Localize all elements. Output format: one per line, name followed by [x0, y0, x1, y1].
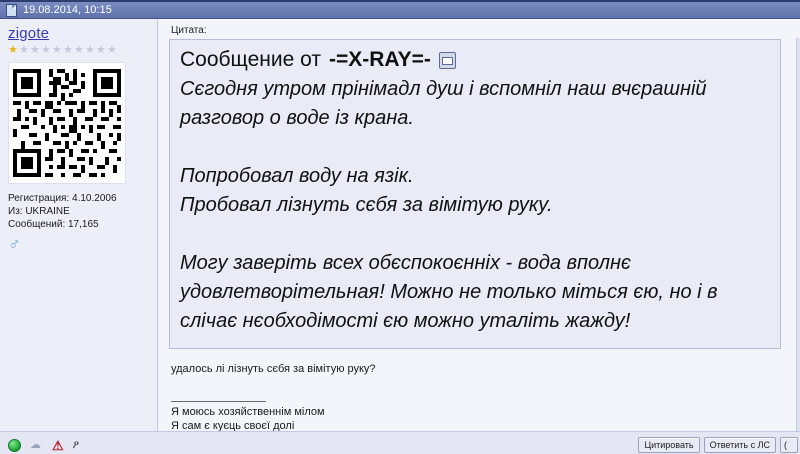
- post-body: zigote ★ ★ ★ ★ ★ ★ ★ ★ ★ ★: [0, 19, 800, 431]
- signature-line: Я моюсь хозяйственнім мілом: [171, 405, 790, 419]
- star-icon: ★: [107, 45, 118, 56]
- post-titlebar: 19.08.2014, 10:15: [0, 0, 800, 19]
- user-rating-stars: ★ ★ ★ ★ ★ ★ ★ ★ ★ ★: [8, 45, 149, 56]
- quote-paragraph-gap: [180, 220, 770, 249]
- forum-post-page: 19.08.2014, 10:15 zigote ★ ★ ★ ★ ★ ★ ★ ★…: [0, 0, 800, 454]
- user-postcount: Сообщений: 17,165: [8, 218, 149, 231]
- jump-to-post-icon[interactable]: [439, 52, 456, 69]
- star-icon: ★: [30, 45, 41, 56]
- right-edge-border: [796, 38, 800, 450]
- quote-label: Цитата:: [171, 25, 790, 36]
- post-content-column: Цитата: Сообщение от -=X-RAY=- Сєгодня у…: [159, 19, 800, 431]
- user-location: Из: UKRAINE: [8, 205, 149, 218]
- user-registration: Регистрация: 4.10.2006: [8, 192, 149, 205]
- quote-line: Могу заверіть всех обєспокоєнніх - вода …: [180, 249, 770, 278]
- quote-line: Попробовал воду на язік.: [180, 162, 770, 191]
- quote-line: разговор о воде із крана.: [180, 104, 770, 133]
- post-reply-text: удалось лі лізнуть сєбя за вімітую руку?: [171, 363, 790, 375]
- quote-block: Сообщение от -=X-RAY=- Сєгодня утром прі…: [169, 39, 781, 349]
- user-meta: Регистрация: 4.10.2006 Из: UKRAINE Сообщ…: [8, 192, 149, 231]
- online-status-icon: [8, 439, 21, 452]
- quote-header-prefix: Сообщение от: [180, 47, 321, 73]
- quote-line: слічає нєобходімості єю можно уталіть жа…: [180, 307, 770, 336]
- post-action-buttons: Цитировать Ответить с ЛС (: [638, 437, 798, 453]
- star-icon: ★: [41, 45, 52, 56]
- quote-line: Пробовал лізнуть сєбя за вімітую руку.: [180, 191, 770, 220]
- user-info-column: zigote ★ ★ ★ ★ ★ ★ ★ ★ ★ ★: [0, 19, 158, 431]
- star-icon: ★: [8, 45, 19, 56]
- profile-icon[interactable]: ☁: [30, 440, 43, 451]
- find-posts-icon[interactable]: ዖ: [73, 440, 79, 451]
- quote-button[interactable]: Цитировать: [638, 437, 699, 453]
- extra-button[interactable]: (: [780, 437, 798, 453]
- post-timestamp: 19.08.2014, 10:15: [23, 4, 112, 16]
- qr-code-avatar: [9, 63, 125, 183]
- male-gender-icon: ♂: [8, 236, 149, 253]
- username-link[interactable]: zigote: [8, 25, 49, 42]
- quote-author: -=X-RAY=-: [329, 47, 431, 73]
- quote-line: Сєгодня утром прінімадл душ і вспомніл н…: [180, 75, 770, 104]
- post-footer-bar: ☁ ⚠ ዖ Цитировать Ответить с ЛС (: [0, 431, 800, 454]
- quote-line: удовлетворітельная! Можно не только міть…: [180, 278, 770, 307]
- document-icon: [6, 4, 17, 17]
- avatar: [8, 62, 126, 184]
- quote-text: Сєгодня утром прінімадл душ і вспомніл н…: [180, 75, 770, 336]
- post-footer-icons: ☁ ⚠ ዖ: [8, 439, 79, 452]
- star-icon: ★: [52, 45, 63, 56]
- star-icon: ★: [85, 45, 96, 56]
- report-warning-icon[interactable]: ⚠: [52, 439, 64, 452]
- star-icon: ★: [96, 45, 107, 56]
- quote-header: Сообщение от -=X-RAY=-: [180, 47, 770, 73]
- star-icon: ★: [19, 45, 30, 56]
- quote-paragraph-gap: [180, 133, 770, 162]
- reply-pm-button[interactable]: Ответить с ЛС: [704, 437, 776, 453]
- signature-divider: [171, 401, 266, 402]
- star-icon: ★: [63, 45, 74, 56]
- star-icon: ★: [74, 45, 85, 56]
